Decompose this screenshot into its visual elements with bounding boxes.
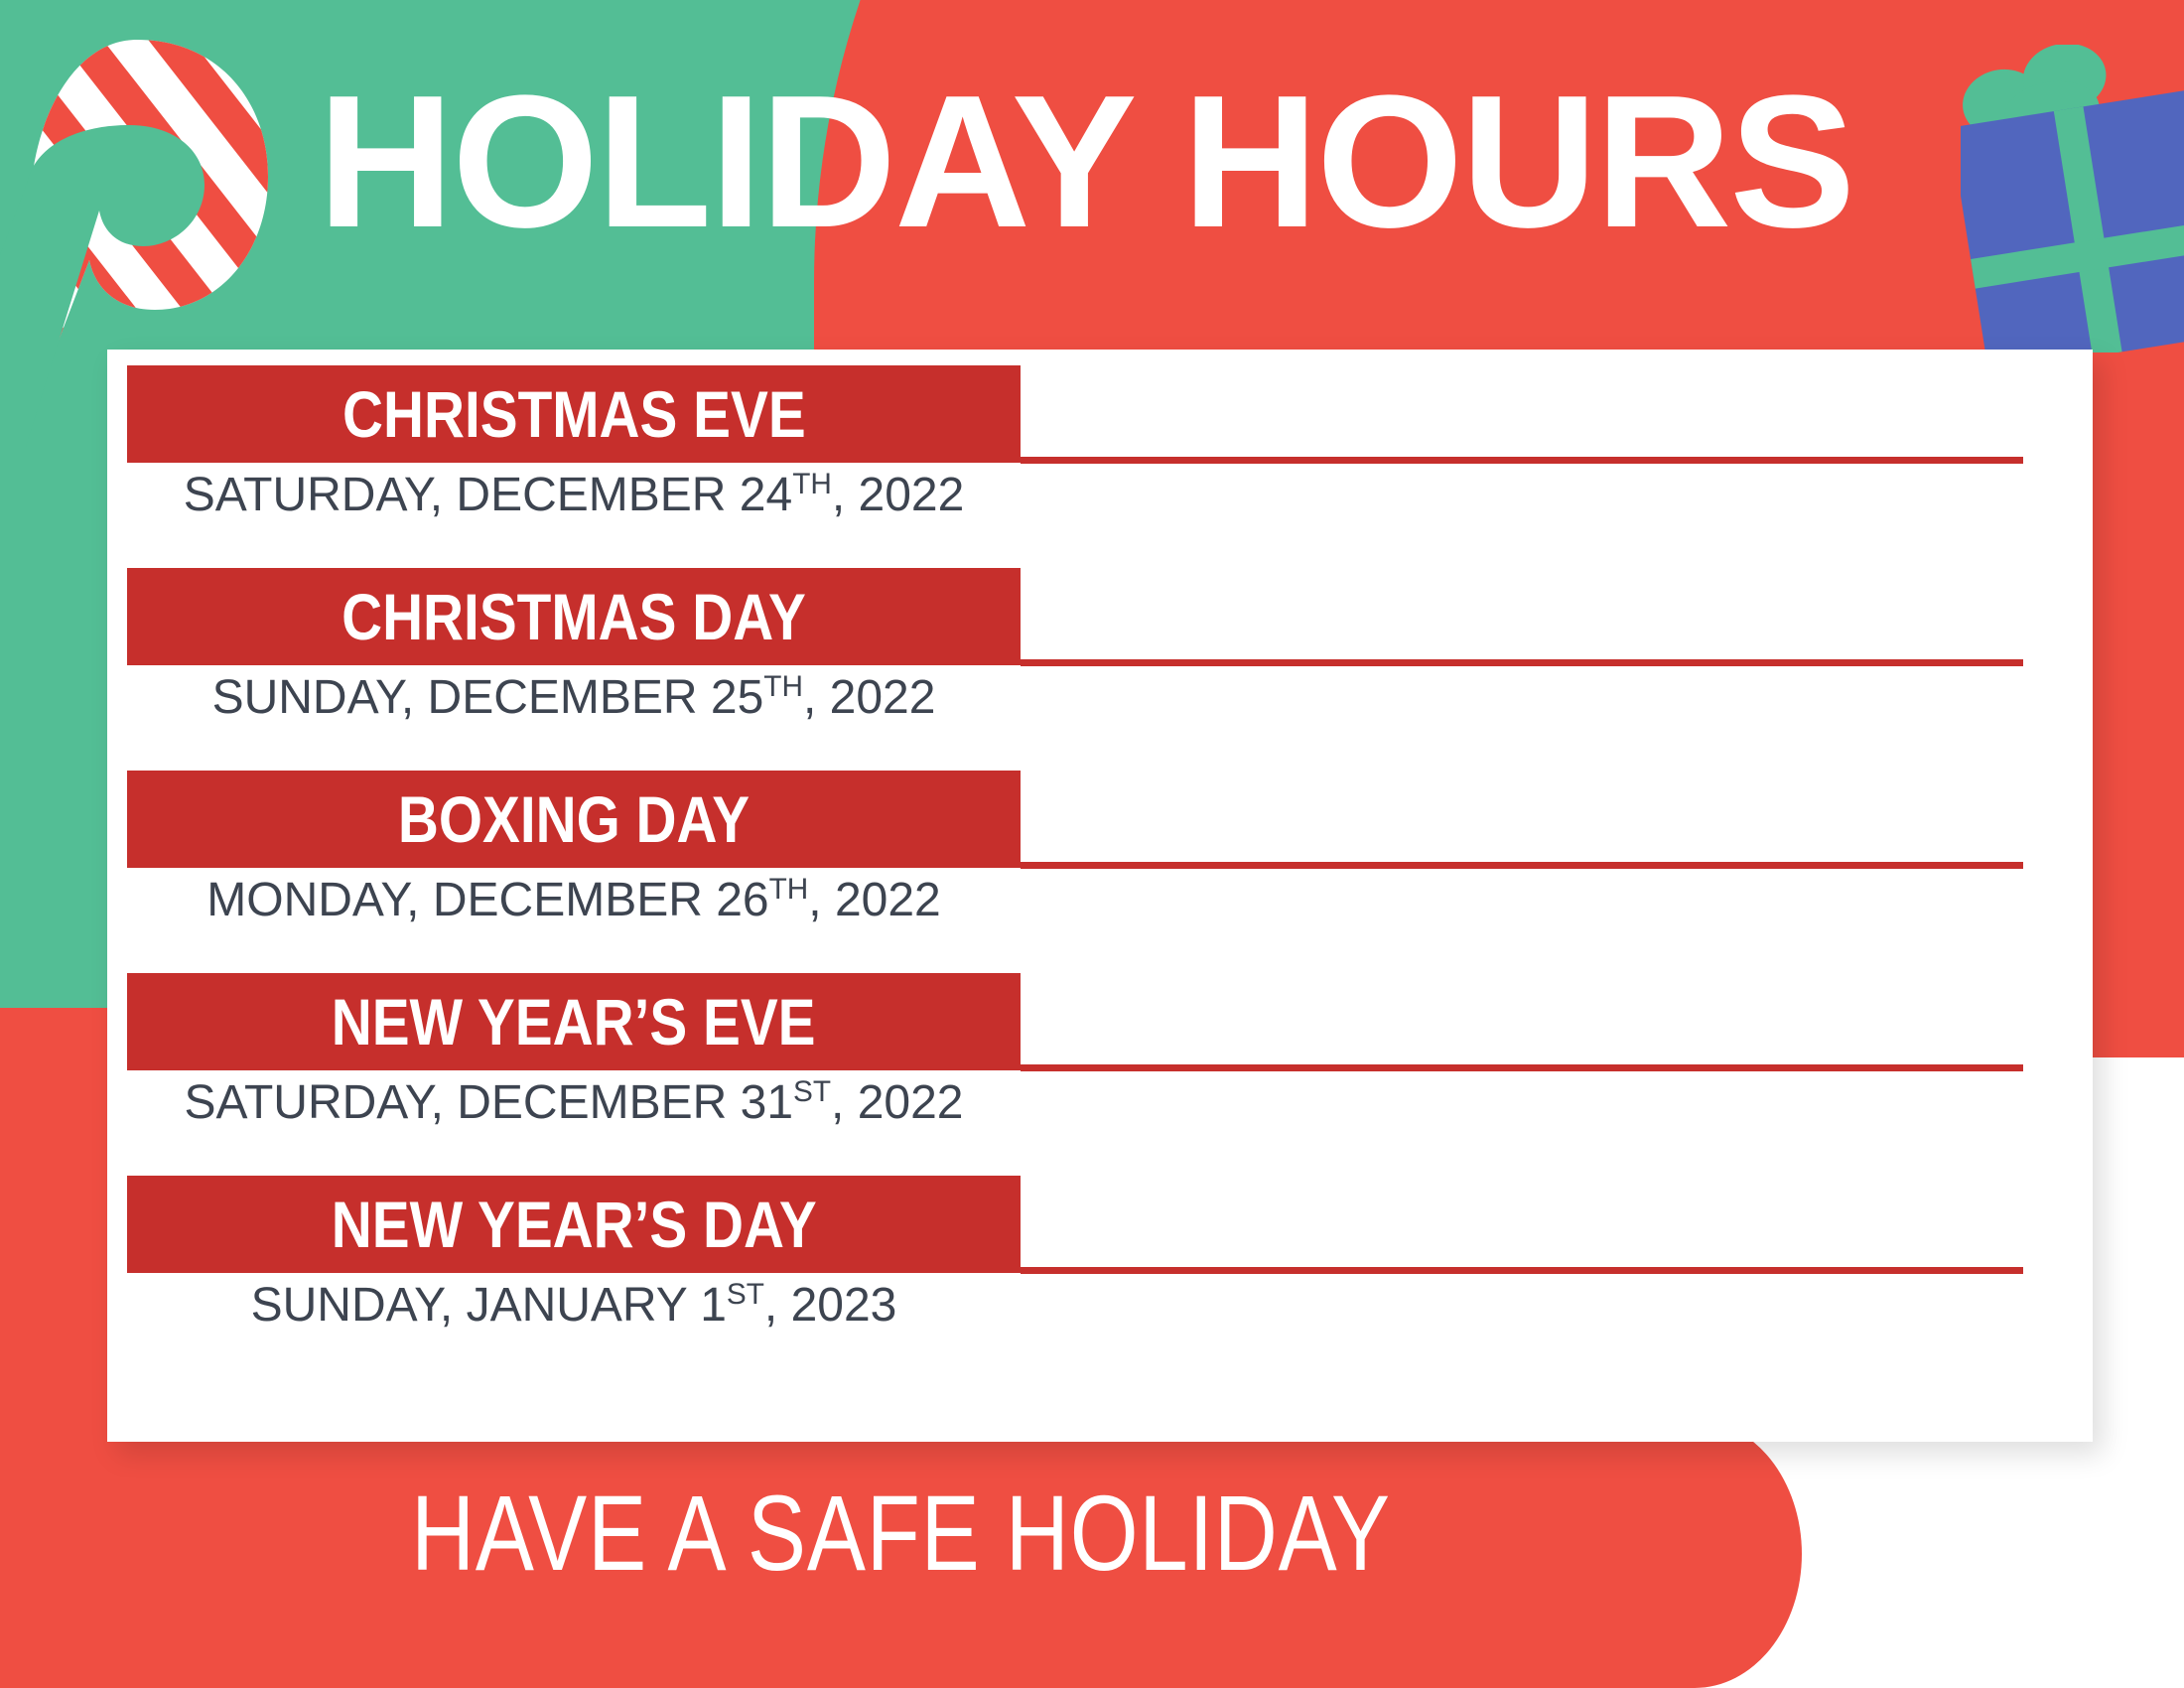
- holiday-date: MONDAY, DECEMBER 26TH, 2022: [127, 876, 1021, 925]
- schedule-row: CHRISTMAS DAY SUNDAY, DECEMBER 25TH, 202…: [107, 552, 2093, 755]
- holiday-date: SATURDAY, DECEMBER 31ST, 2022: [127, 1078, 1021, 1128]
- holiday-date-prefix: MONDAY, DECEMBER 26: [206, 874, 768, 926]
- holiday-date: SUNDAY, JANUARY 1ST, 2023: [127, 1281, 1021, 1331]
- holiday-name-bar: NEW YEAR’S EVE: [127, 973, 1021, 1070]
- hours-write-in-line[interactable]: [1021, 1064, 2023, 1071]
- holiday-date-suffix: , 2022: [803, 671, 935, 724]
- holiday-date-prefix: SATURDAY, DECEMBER 31: [185, 1076, 794, 1129]
- holiday-date-suffix: , 2022: [831, 1076, 963, 1129]
- holiday-name-bar: BOXING DAY: [127, 771, 1021, 868]
- holiday-date-prefix: SUNDAY, JANUARY 1: [251, 1279, 727, 1332]
- holiday-name-label: NEW YEAR’S EVE: [332, 989, 816, 1055]
- holiday-name-label: BOXING DAY: [398, 786, 750, 852]
- hours-write-in-line[interactable]: [1021, 659, 2023, 666]
- holiday-hours-poster: HOLIDAY HOURS CHRISTMAS EVE SATURDAY, DE…: [0, 0, 2184, 1688]
- schedule-row: BOXING DAY MONDAY, DECEMBER 26TH, 2022: [107, 755, 2093, 957]
- page-title: HOLIDAY HOURS: [318, 68, 1946, 256]
- holiday-name-bar: CHRISTMAS EVE: [127, 365, 1021, 463]
- holiday-date-suffix: , 2023: [764, 1279, 896, 1332]
- holiday-date-ordinal: TH: [763, 670, 803, 703]
- holiday-name-label: CHRISTMAS EVE: [342, 381, 806, 447]
- schedule-rows: CHRISTMAS EVE SATURDAY, DECEMBER 24TH, 2…: [107, 350, 2093, 1388]
- footer-message: HAVE A SAFE HOLIDAY: [162, 1479, 1639, 1587]
- hours-write-in-line[interactable]: [1021, 1267, 2023, 1274]
- holiday-date: SATURDAY, DECEMBER 24TH, 2022: [127, 471, 1021, 520]
- holiday-date-suffix: , 2022: [808, 874, 940, 926]
- holiday-name-bar: NEW YEAR’S DAY: [127, 1176, 1021, 1273]
- holiday-date: SUNDAY, DECEMBER 25TH, 2022: [127, 673, 1021, 723]
- schedule-row: NEW YEAR’S EVE SATURDAY, DECEMBER 31ST, …: [107, 957, 2093, 1160]
- hours-write-in-line[interactable]: [1021, 862, 2023, 869]
- schedule-row: NEW YEAR’S DAY SUNDAY, JANUARY 1ST, 2023: [107, 1160, 2093, 1388]
- holiday-date-prefix: SATURDAY, DECEMBER 24: [184, 469, 793, 521]
- hours-write-in-line[interactable]: [1021, 457, 2023, 464]
- holiday-date-ordinal: TH: [769, 873, 809, 906]
- holiday-name-bar: CHRISTMAS DAY: [127, 568, 1021, 665]
- holiday-name-label: CHRISTMAS DAY: [341, 584, 806, 649]
- holiday-date-ordinal: ST: [793, 1075, 831, 1108]
- holiday-date-ordinal: ST: [727, 1278, 764, 1311]
- holiday-date-prefix: SUNDAY, DECEMBER 25: [212, 671, 764, 724]
- gift-box-icon: [1961, 45, 2184, 352]
- holiday-date-ordinal: TH: [792, 468, 832, 500]
- schedule-row: CHRISTMAS EVE SATURDAY, DECEMBER 24TH, 2…: [107, 350, 2093, 552]
- holiday-name-label: NEW YEAR’S DAY: [332, 1192, 817, 1257]
- schedule-card: CHRISTMAS EVE SATURDAY, DECEMBER 24TH, 2…: [107, 350, 2093, 1442]
- holiday-date-suffix: , 2022: [832, 469, 964, 521]
